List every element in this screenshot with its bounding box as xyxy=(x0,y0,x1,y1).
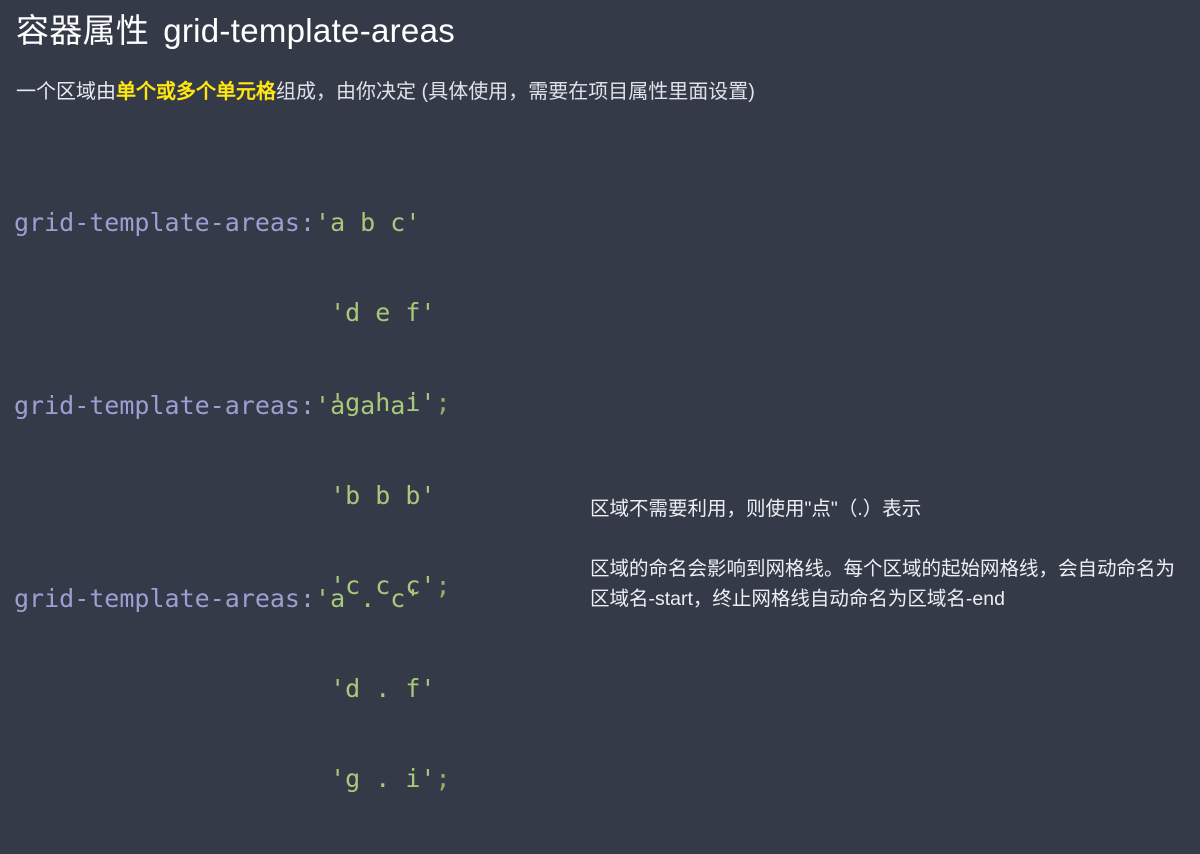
css-string-value: 'a a a' xyxy=(315,391,420,420)
notes-panel: 区域不需要利用，则使用"点"（.）表示 区域的命名会影响到网格线。每个区域的起始… xyxy=(590,494,1190,614)
css-string-value: 'd . f' xyxy=(330,674,435,703)
code-line: grid-template-areas:'a a a' xyxy=(14,391,451,421)
code-line: 'd . f' xyxy=(14,674,451,704)
css-string-value: 'a . c' xyxy=(315,584,420,613)
page-title-chinese: 容器属性 xyxy=(16,12,149,49)
slide-root: 容器属性grid-template-areas 一个区域由单个或多个单元格组成，… xyxy=(0,0,1200,647)
css-property-name: grid-template-areas: xyxy=(14,584,315,613)
code-indent xyxy=(14,674,330,703)
code-line: 'd e f' xyxy=(14,298,451,328)
code-terminator: ; xyxy=(435,764,450,793)
subtitle-tail: 组成，由你决定 (具体使用，需要在项目属性里面设置) xyxy=(276,81,755,103)
note-grid-line-naming: 区域的命名会影响到网格线。每个区域的起始网格线，会自动命名为区域名-start，… xyxy=(590,554,1188,614)
subtitle-highlight: 单个或多个单元格 xyxy=(116,81,276,103)
code-line: grid-template-areas:'a b c' xyxy=(14,208,451,238)
css-property-name: grid-template-areas: xyxy=(14,391,315,420)
css-string-value: 'a b c' xyxy=(315,208,420,237)
code-block-empty-cell-areas: grid-template-areas:'a . c' 'd . f' 'g .… xyxy=(14,524,451,854)
page-title-property: grid-template-areas xyxy=(163,12,455,49)
css-string-value: 'd e f' xyxy=(330,298,435,327)
code-indent xyxy=(14,764,330,793)
css-string-value: 'g . i' xyxy=(330,764,435,793)
page-subtitle: 一个区域由单个或多个单元格组成，由你决定 (具体使用，需要在项目属性里面设置) xyxy=(16,78,755,106)
code-line: 'g . i'; xyxy=(14,764,451,794)
note-dot-notation: 区域不需要利用，则使用"点"（.）表示 xyxy=(590,494,1190,524)
page-title: 容器属性grid-template-areas xyxy=(16,8,455,54)
code-indent xyxy=(14,481,330,510)
css-string-value: 'b b b' xyxy=(330,481,435,510)
css-property-name: grid-template-areas: xyxy=(14,208,315,237)
code-line: 'b b b' xyxy=(14,481,451,511)
code-indent xyxy=(14,298,330,327)
subtitle-lead: 一个区域由 xyxy=(16,81,116,103)
code-line: grid-template-areas:'a . c' xyxy=(14,584,451,614)
